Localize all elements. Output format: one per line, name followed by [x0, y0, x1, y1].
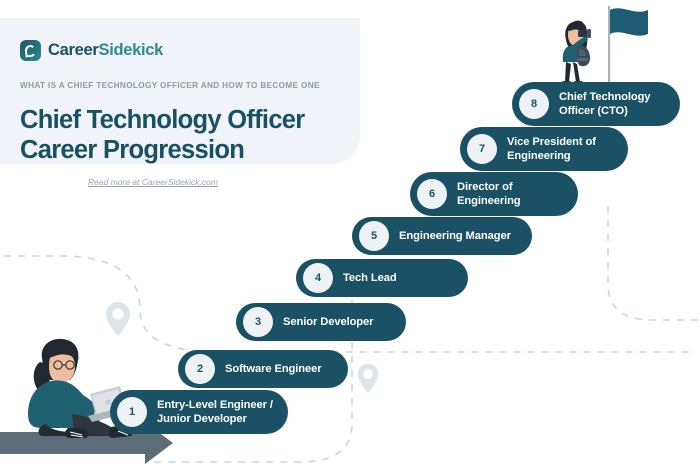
location-pin-icon: [356, 362, 380, 395]
step-label: Senior Developer: [283, 315, 387, 329]
header-kicker: WHAT IS A CHIEF TECHNOLOGY OFFICER AND H…: [20, 81, 320, 90]
career-progression-infographic: 1 Entry-Level Engineer / Junior Develope…: [0, 0, 700, 466]
careersidekick-c-logo-icon: [20, 40, 41, 61]
step-pill-6[interactable]: 6 Director of Engineering: [410, 172, 578, 216]
step-number-badge: 4: [303, 263, 333, 293]
step-number-badge: 5: [359, 221, 389, 251]
page-title: Chief Technology Officer Career Progress…: [20, 106, 350, 165]
step-number-badge: 7: [467, 134, 497, 164]
step-label: Entry-Level Engineer / Junior Developer: [157, 398, 287, 426]
step-label: Tech Lead: [343, 271, 411, 285]
brand-name-part2: Sidekick: [99, 41, 164, 59]
step-label: Engineering Manager: [399, 229, 525, 243]
step-number-badge: 2: [185, 354, 215, 384]
flag-on-pole-icon: [604, 6, 660, 88]
step-label: Director of Engineering: [457, 180, 535, 208]
hiker-with-binoculars-illustration: [548, 14, 610, 88]
step-pill-1[interactable]: 1 Entry-Level Engineer / Junior Develope…: [110, 390, 288, 434]
step-pill-7[interactable]: 7 Vice President of Engineering: [460, 127, 628, 171]
brand-name: CareerSidekick: [48, 41, 163, 60]
location-pin-icon: [104, 300, 132, 338]
brand-logo[interactable]: CareerSidekick: [20, 40, 163, 61]
step-number-badge: 3: [243, 307, 273, 337]
step-label: Chief Technology Officer (CTO): [559, 90, 664, 118]
step-number-badge: 1: [117, 397, 147, 427]
brand-name-part1: Career: [48, 41, 99, 59]
header-card: CareerSidekick WHAT IS A CHIEF TECHNOLOG…: [0, 18, 360, 164]
step-label: Vice President of Engineering: [507, 135, 610, 163]
step-number-badge: 6: [417, 179, 447, 209]
read-more-link[interactable]: Read more at CareerSidekick.com: [88, 177, 218, 187]
step-label: Software Engineer: [225, 362, 336, 376]
step-pill-5[interactable]: 5 Engineering Manager: [352, 217, 532, 255]
step-number-badge: 8: [519, 89, 549, 119]
step-pill-2[interactable]: 2 Software Engineer: [178, 350, 348, 388]
step-pill-8[interactable]: 8 Chief Technology Officer (CTO): [512, 82, 680, 126]
step-pill-4[interactable]: 4 Tech Lead: [296, 259, 468, 297]
step-pill-3[interactable]: 3 Senior Developer: [236, 303, 406, 341]
